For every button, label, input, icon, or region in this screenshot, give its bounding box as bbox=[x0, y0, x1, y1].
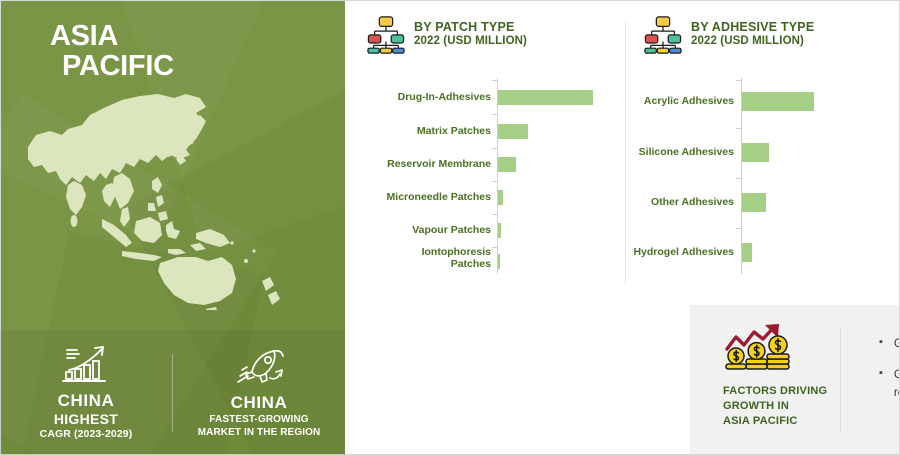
chart-title: BY PATCH TYPE bbox=[414, 20, 527, 35]
content-area: BY PATCH TYPE 2022 (USD MILLION) Drug-In… bbox=[345, 0, 900, 455]
rocket-icon bbox=[177, 346, 341, 388]
bar-row: Vapour Patches bbox=[345, 223, 625, 238]
factors-title-line2: GROWTH IN bbox=[723, 399, 840, 414]
bar-row: Microneedle Patches bbox=[345, 190, 625, 205]
axis-tick bbox=[492, 181, 497, 182]
region-title: ASIA PACIFIC bbox=[50, 22, 174, 81]
stat-detail: MARKET IN THE REGION bbox=[177, 426, 341, 439]
plot-area-adhesive-type: Acrylic Adhesives Silicone Adhesives Oth… bbox=[626, 72, 900, 287]
factors-title-line1: FACTORS DRIVING bbox=[723, 384, 840, 399]
factors-title: FACTORS DRIVING GROWTH IN ASIA PACIFIC bbox=[723, 384, 840, 429]
chart-header: BY PATCH TYPE 2022 (USD MILLION) bbox=[345, 0, 625, 54]
hierarchy-icon bbox=[367, 14, 405, 54]
bar-label: Vapour Patches bbox=[351, 224, 491, 236]
bar-label: Microneedle Patches bbox=[351, 191, 491, 203]
factors-bullet-list: ▪ Growing need for the development of ne… bbox=[841, 323, 900, 415]
bar-row: Iontophoresis Patches bbox=[345, 254, 625, 269]
chart-title: BY ADHESIVE TYPE bbox=[691, 20, 814, 35]
bar-hydrogel-adhesives bbox=[742, 243, 752, 262]
bar-label: Iontophoresis Patches bbox=[391, 246, 491, 270]
coins-growth-icon bbox=[723, 323, 797, 375]
axis-tick bbox=[492, 148, 497, 149]
bar-label: Silicone Adhesives bbox=[630, 146, 734, 158]
bar-row: Acrylic Adhesives bbox=[626, 92, 900, 111]
chart-header: BY ADHESIVE TYPE 2022 (USD MILLION) bbox=[626, 0, 900, 54]
bar-drug-in-adhesives bbox=[498, 90, 593, 105]
factors-label-group: FACTORS DRIVING GROWTH IN ASIA PACIFIC bbox=[690, 323, 840, 429]
bar-label: Other Adhesives bbox=[630, 196, 734, 208]
bar-matrix-patches bbox=[498, 124, 528, 139]
bar-other-adhesives bbox=[742, 193, 766, 212]
axis-tick bbox=[492, 214, 497, 215]
bar-row: Drug-In-Adhesives bbox=[345, 90, 625, 105]
axis-tick bbox=[736, 128, 741, 129]
stat-subtitle: HIGHEST bbox=[4, 411, 168, 428]
chart-subtitle: 2022 (USD MILLION) bbox=[414, 35, 527, 49]
axis-tick bbox=[492, 80, 497, 81]
bar-row: Other Adhesives bbox=[626, 193, 900, 212]
axis-tick bbox=[492, 114, 497, 115]
axis-tick bbox=[492, 247, 497, 248]
bar-label: Drug-In-Adhesives bbox=[351, 91, 491, 103]
bar-reservoir-membrane bbox=[498, 157, 516, 172]
factors-panel: FACTORS DRIVING GROWTH IN ASIA PACIFIC ▪… bbox=[690, 305, 900, 455]
bullet-text: Growth in the Asian pharmaceutical marke… bbox=[894, 366, 900, 401]
bar-label: Matrix Patches bbox=[351, 125, 491, 137]
stat-subtitle: FASTEST-GROWING bbox=[177, 413, 341, 426]
bar-label: Hydrogel Adhesives bbox=[630, 246, 734, 258]
bar-label: Reservoir Membrane bbox=[351, 158, 491, 170]
bar-silicone-adhesives bbox=[742, 143, 769, 162]
bar-rows: Acrylic Adhesives Silicone Adhesives Oth… bbox=[626, 72, 900, 287]
chart-by-patch-type: BY PATCH TYPE 2022 (USD MILLION) Drug-In… bbox=[345, 0, 625, 305]
chart-subtitle: 2022 (USD MILLION) bbox=[691, 35, 814, 49]
bar-row: Matrix Patches bbox=[345, 124, 625, 139]
bar-vapour-patches bbox=[498, 223, 501, 238]
hierarchy-icon bbox=[644, 14, 682, 54]
chart-title-group: BY ADHESIVE TYPE 2022 (USD MILLION) bbox=[691, 20, 814, 49]
region-panel: ASIA PACIFIC bbox=[0, 0, 345, 455]
stats-band: CHINA HIGHEST CAGR (2023-2029) bbox=[0, 330, 345, 455]
stat-highest-cagr: CHINA HIGHEST CAGR (2023-2029) bbox=[0, 344, 172, 440]
bullet-square-icon: ▪ bbox=[879, 366, 883, 401]
bar-row: Hydrogel Adhesives bbox=[626, 243, 900, 262]
bar-acrylic-adhesives bbox=[742, 92, 814, 111]
bar-row: Silicone Adhesives bbox=[626, 143, 900, 162]
bullet-text: Growing need for the development of new … bbox=[894, 335, 900, 352]
stat-title: CHINA bbox=[177, 393, 341, 413]
chart-title-group: BY PATCH TYPE 2022 (USD MILLION) bbox=[414, 20, 527, 49]
chart-by-adhesive-type: BY ADHESIVE TYPE 2022 (USD MILLION) Acry… bbox=[626, 0, 900, 305]
bar-iontophoresis-patches bbox=[498, 254, 500, 269]
stat-detail: CAGR (2023-2029) bbox=[4, 428, 168, 441]
charts-zone: BY PATCH TYPE 2022 (USD MILLION) Drug-In… bbox=[345, 0, 900, 305]
bar-label: Acrylic Adhesives bbox=[630, 95, 734, 107]
region-title-line2: PACIFIC bbox=[62, 52, 174, 82]
stat-title: CHINA bbox=[4, 391, 168, 411]
bar-rows: Drug-In-Adhesives Matrix Patches Reservo… bbox=[345, 72, 625, 287]
region-title-line1: ASIA bbox=[50, 20, 118, 52]
axis-tick bbox=[736, 80, 741, 81]
axis-tick bbox=[736, 228, 741, 229]
factors-title-line3: ASIA PACIFIC bbox=[723, 414, 840, 429]
list-item: ▪ Growth in the Asian pharmaceutical mar… bbox=[879, 366, 900, 401]
bar-microneedle-patches bbox=[498, 190, 503, 205]
asia-pacific-map-icon bbox=[10, 85, 340, 310]
axis-tick bbox=[736, 178, 741, 179]
plot-area-patch-type: Drug-In-Adhesives Matrix Patches Reservo… bbox=[345, 72, 625, 287]
bullet-square-icon: ▪ bbox=[879, 335, 883, 352]
list-item: ▪ Growing need for the development of ne… bbox=[879, 335, 900, 352]
bar-chart-growth-icon bbox=[4, 344, 168, 386]
infographic-page: ASIA PACIFIC bbox=[0, 0, 900, 455]
stat-fastest-growing: CHINA FASTEST-GROWING MARKET IN THE REGI… bbox=[173, 346, 345, 439]
bar-row: Reservoir Membrane bbox=[345, 157, 625, 172]
